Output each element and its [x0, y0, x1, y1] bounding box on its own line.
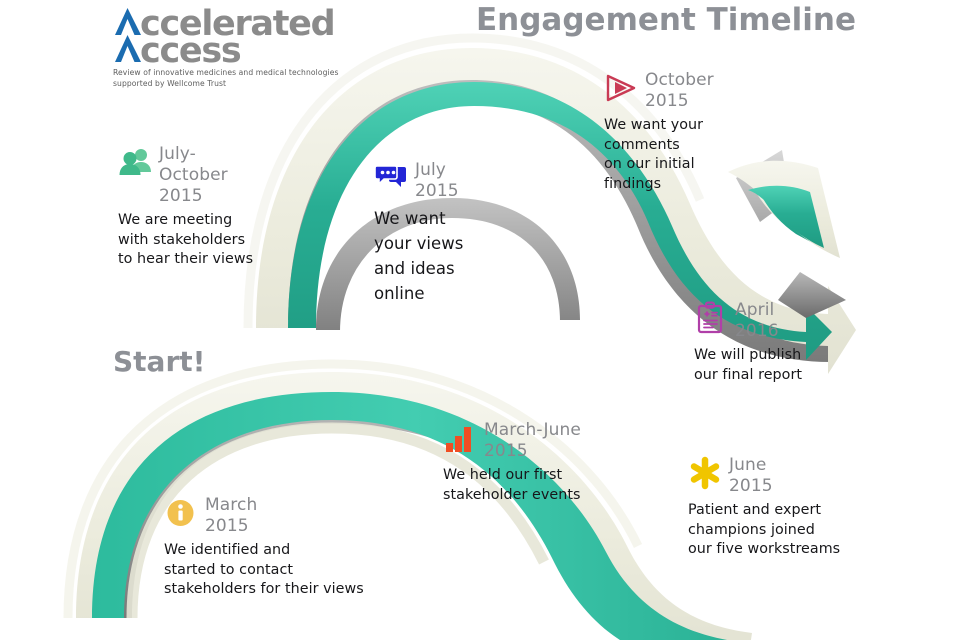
milestone-header: July 2015 [374, 160, 504, 202]
milestone-header: June 2015 [688, 455, 868, 497]
milestone-body: We held our first stakeholder events [443, 466, 618, 505]
infographic-canvas: ccelerated ccess Review of innovative me… [0, 0, 960, 640]
milestone-date: October 2015 [645, 70, 714, 112]
milestone-header: March-June 2015 [443, 420, 618, 462]
milestone-body: Patient and expert champions joined our … [688, 501, 868, 560]
milestone-body: We want your comments on our initial fin… [604, 116, 754, 194]
milestone-july-2015[interactable]: July 2015 We want your views and ideas o… [374, 160, 504, 306]
asterisk-icon [688, 456, 722, 490]
milestone-date: July- October 2015 [159, 144, 228, 207]
chevron-a-icon-2 [113, 33, 143, 64]
milestone-date: March 2015 [205, 495, 257, 537]
milestone-header: October 2015 [604, 70, 754, 112]
milestone-march-june-2015[interactable]: March-June 2015 We held our first stakeh… [443, 420, 618, 505]
clipboard-icon [694, 301, 728, 335]
milestone-body: We identified and started to contact sta… [164, 541, 404, 600]
milestone-date: June 2015 [729, 455, 773, 497]
milestone-header: March 2015 [164, 495, 404, 537]
logo: ccelerated ccess Review of innovative me… [113, 4, 373, 89]
milestone-header: July- October 2015 [118, 144, 278, 207]
people-icon [118, 145, 152, 179]
milestone-june-2015[interactable]: June 2015 Patient and expert champions j… [688, 455, 868, 560]
milestone-body: We are meeting with stakeholders to hear… [118, 211, 278, 270]
logo-tagline: Review of innovative medicines and medic… [113, 68, 343, 89]
play-triangle-icon [604, 71, 638, 105]
milestone-date: April 2016 [735, 300, 779, 342]
milestone-july-october-2015[interactable]: July- October 2015 We are meeting with s… [118, 144, 278, 270]
start-label: Start! [113, 345, 205, 378]
milestone-date: March-June 2015 [484, 420, 581, 462]
logo-word-access: ccess [140, 36, 240, 67]
info-circle-icon [164, 496, 198, 530]
milestone-header: April 2016 [694, 300, 854, 342]
chat-bubbles-icon [374, 161, 408, 195]
milestone-april-2016[interactable]: April 2016 We will publish our final rep… [694, 300, 854, 385]
milestone-date: July 2015 [415, 160, 459, 202]
milestone-body: We want your views and ideas online [374, 206, 504, 306]
milestone-october-2015[interactable]: October 2015 We want your comments on ou… [604, 70, 754, 194]
page-title: Engagement Timeline [476, 2, 856, 38]
bar-chart-icon [443, 421, 477, 455]
milestone-body: We will publish our final report [694, 346, 854, 385]
milestone-march-2015[interactable]: March 2015 We identified and started to … [164, 495, 404, 600]
